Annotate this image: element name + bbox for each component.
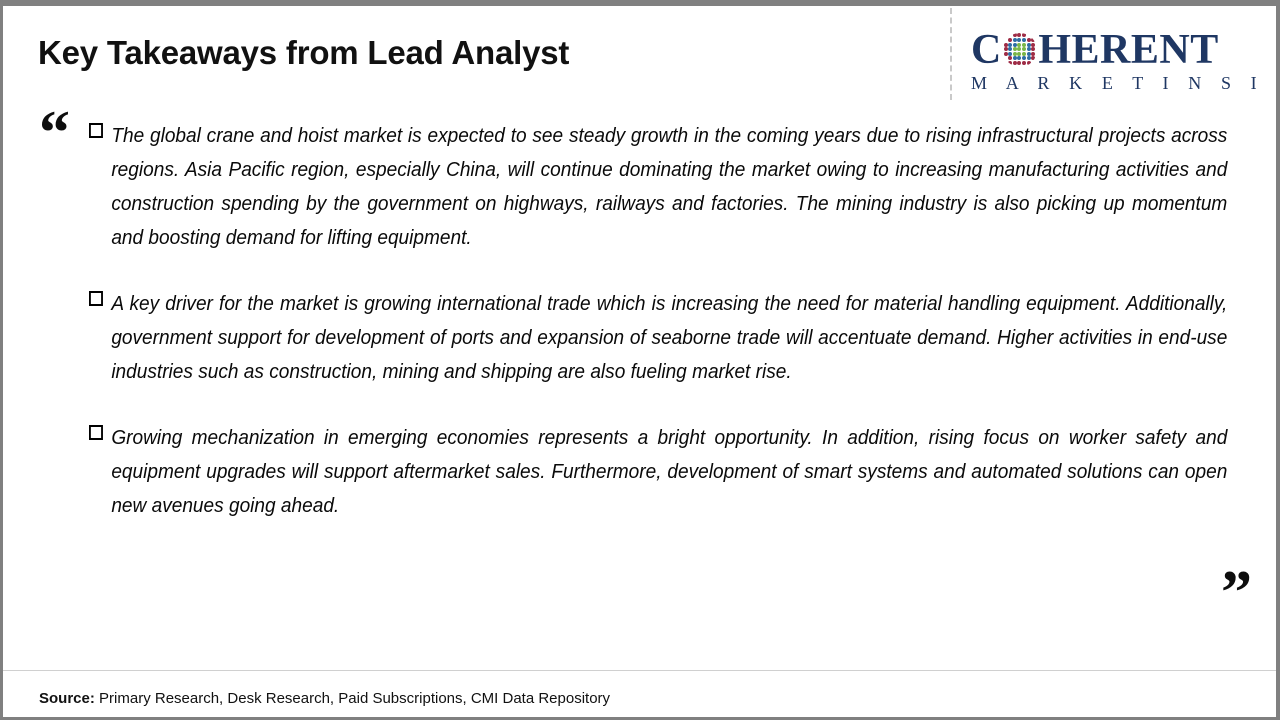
takeaway-item: Growing mechanization in emerging econom… (89, 421, 1227, 523)
footer-divider (3, 670, 1276, 671)
takeaway-text: Growing mechanization in emerging econom… (111, 426, 1227, 517)
takeaway-text: The global crane and hoist market is exp… (111, 124, 1227, 249)
hollow-square-bullet-icon (89, 123, 103, 138)
closing-quote-icon: ” (1221, 562, 1252, 624)
takeaways-list: The global crane and hoist market is exp… (89, 119, 1206, 523)
page-title: Key Takeaways from Lead Analyst (38, 34, 569, 72)
takeaway-text: A key driver for the market is growing i… (111, 292, 1227, 383)
hollow-square-bullet-icon (89, 291, 103, 306)
company-logo: C HERENT M A R K E T I N S I G H T S (971, 28, 1261, 98)
slide-canvas: Key Takeaways from Lead Analyst C HERENT… (0, 0, 1280, 720)
header-divider (950, 8, 952, 100)
dotted-globe-icon (1003, 33, 1037, 67)
logo-letter-c: C (971, 29, 1002, 71)
source-note: Source: Primary Research, Desk Research,… (39, 690, 610, 707)
logo-wordmark: C HERENT (971, 28, 1261, 72)
takeaway-item: The global crane and hoist market is exp… (89, 119, 1227, 255)
logo-tagline: M A R K E T I N S I G H T S (971, 73, 1261, 94)
source-label: Source: (39, 690, 95, 707)
opening-quote-icon: “ (39, 102, 70, 164)
logo-letters-rest: HERENT (1038, 29, 1218, 71)
hollow-square-bullet-icon (89, 425, 103, 440)
takeaway-item: A key driver for the market is growing i… (89, 287, 1227, 389)
source-value: Primary Research, Desk Research, Paid Su… (95, 690, 610, 707)
slide-header: Key Takeaways from Lead Analyst C HERENT… (3, 6, 1276, 104)
